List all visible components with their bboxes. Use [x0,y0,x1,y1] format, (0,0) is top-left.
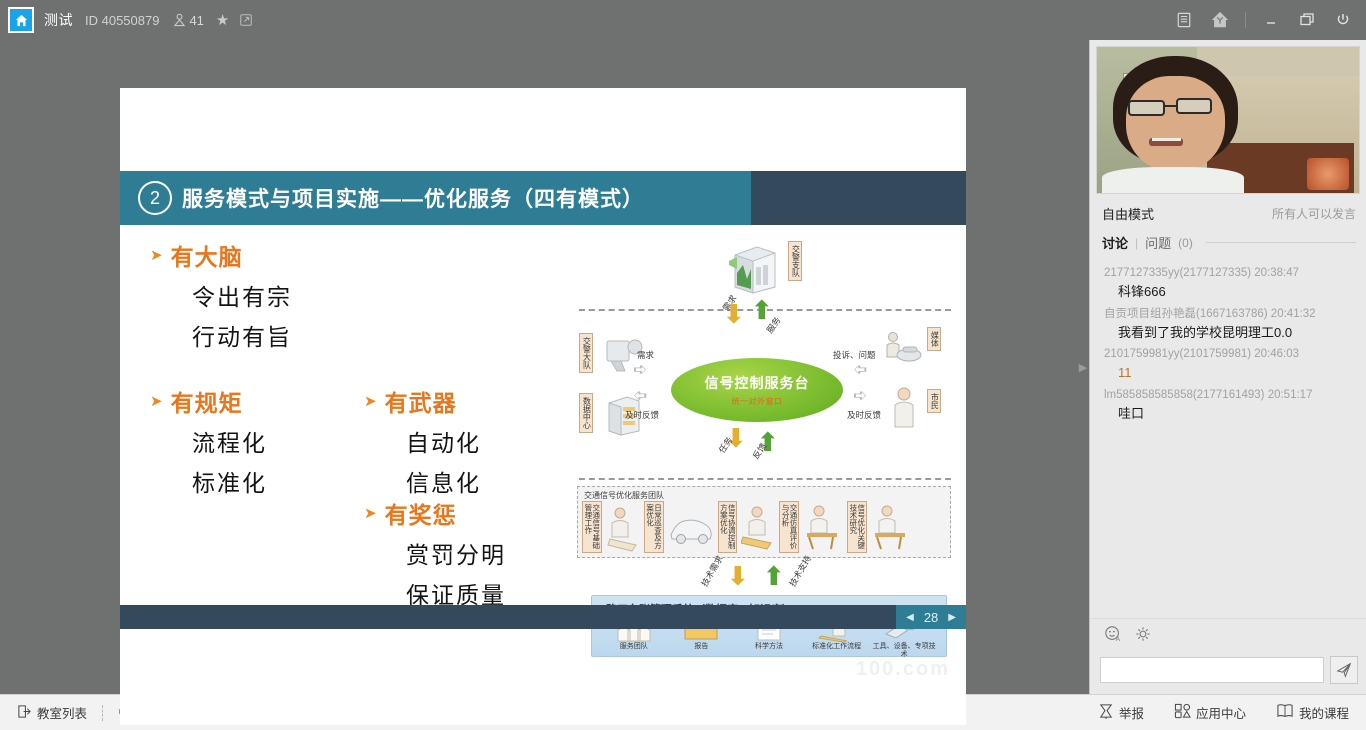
participant-count-label: 41 [189,13,203,28]
bullet-sub: 赏罚分明 [406,536,506,570]
message-meta: 2101759981yy(2101759981) 20:46:03 [1104,345,1356,363]
title-bar: 测试 ID 40550879 41 ★ [0,0,1366,40]
server-building-icon [723,239,785,297]
arrow-bullet-icon: ➤ [364,506,377,521]
arrow-label-complaint: 投诉、问题 [833,349,876,361]
chevron-right-icon[interactable]: ▶ [1077,345,1089,389]
divider [1245,12,1246,28]
tab-question-count: (0) [1178,236,1193,250]
arrow-bullet-icon: ➤ [150,394,163,409]
arrow-bullet-icon: ➤ [364,394,377,409]
message-item: 2177127335yy(2177127335) 20:38:47 科锋666 [1104,264,1356,303]
node-label-traffic-police-division: 交警大队 [579,333,593,373]
classroom-list-label: 教室列表 [37,703,87,722]
message-meta: 自贡项目组孙艳磊(1667163786) 20:41:32 [1104,305,1356,323]
gear-icon[interactable] [1134,625,1152,648]
tab-question[interactable]: 问题 [1145,233,1171,252]
message-meta: 2177127335yy(2177127335) 20:38:47 [1104,264,1356,282]
watermark: 100.com [856,658,950,681]
arrow-bullet-icon: ➤ [150,248,163,263]
bullet-group-4: ➤ 有奖惩 赏罚分明 保证质量 [364,496,506,610]
message-text: 哇口 [1104,404,1356,424]
book-icon [1276,703,1294,722]
app-center-button[interactable]: 应用中心 [1167,703,1253,722]
report-label: 举报 [1119,703,1144,722]
down-arrow-icon: ⬇ [727,563,749,589]
window-controls [1173,8,1366,32]
db-item-label: 科学方法 [755,643,783,651]
home-icon[interactable] [8,7,34,33]
team-item-label: 信号协调控制方案优化 [718,501,738,553]
service-desk-node: 信号控制服务台 统一对外窗口 [671,358,843,422]
node-label-traffic-police-branch: 交警支队 [788,241,802,281]
bullet-sub: 信息化 [406,464,481,498]
team-item-label: 交通信号基础管理工作 [582,501,602,553]
bullet-group-1: ➤ 有大脑 令出有宗 行动有旨 [150,238,292,352]
tab-divider: | [1135,236,1138,250]
people-icon [173,13,186,27]
db-item-label: 标准化工作流程 [812,643,861,651]
team-item-label: 交通仿真评价与分析 [779,501,799,553]
team-box-title: 交通信号优化服务团队 [584,490,664,501]
list-icon[interactable] [1173,8,1195,32]
bullet-sub: 流程化 [192,424,267,458]
bottom-right-actions: 举报 应用中心 我的课程 [1091,703,1356,723]
person-writing-icon [606,501,640,553]
slide-footer-bar: ◀ 28 ▶ [120,605,966,629]
db-item-label: 工具、设备、专项技术 [872,643,936,658]
next-page-button[interactable]: ▶ [948,612,956,623]
chat-toolbar: A [1090,618,1366,652]
participant-count: 41 [173,13,203,28]
bullet-heading: 有武器 [385,384,457,418]
message-item: 2101759981yy(2101759981) 20:46:03 11 [1104,345,1356,384]
message-meta: lm585858585858(2177161493) 20:51:17 [1104,386,1356,404]
down-arrow-icon: ⬇ [723,301,745,327]
message-item: lm585858585858(2177161493) 20:51:17 哇口 [1104,386,1356,425]
left-arrow-icon: ➪ [853,361,867,378]
chat-input-row [1090,652,1366,694]
exit-icon [17,704,32,722]
message-text: 11 [1104,363,1356,383]
home-nav-icon[interactable] [1209,8,1231,32]
share-icon[interactable] [239,13,253,27]
app-center-label: 应用中心 [1196,703,1246,722]
divider [1206,242,1356,243]
arrow-label-feedback-left: 及时反馈 [625,409,659,421]
citizen-icon [889,385,919,431]
bullet-sub: 标准化 [192,464,267,498]
divider [102,705,103,721]
video-panel [1090,40,1366,194]
right-sidebar: 自由模式 所有人可以发言 讨论 | 问题 (0) 2177127335yy(21… [1089,40,1366,694]
teacher-video[interactable] [1096,46,1360,194]
left-arrow-icon: ➪ [633,387,647,404]
maximize-button[interactable] [1296,8,1318,32]
team-item-label: 信号优化关键技术研究 [847,501,867,553]
room-id: ID 40550879 [85,13,159,28]
classroom-app: 测试 ID 40550879 41 ★ [0,0,1366,730]
classroom-list-button[interactable]: 教室列表 [10,703,94,722]
node-label-citizen: 市民 [927,389,941,413]
bullet-heading: 有大脑 [171,238,243,272]
report-button[interactable]: 举报 [1091,703,1151,723]
person-computer-icon [871,501,911,553]
slide-title: 服务模式与项目实施——优化服务（四有模式） [182,183,644,213]
arrow-label-demand-left: 需求 [637,349,654,361]
svg-text:A: A [1116,636,1121,643]
service-desk-title: 信号控制服务台 [705,373,810,393]
slide-title-band: 2 服务模式与项目实施——优化服务（四有模式） [120,171,966,225]
prev-page-button[interactable]: ◀ [906,612,914,623]
dashed-divider [579,478,951,480]
bullet-group-3: ➤ 有武器 自动化 信息化 [364,384,481,498]
emoji-icon[interactable]: A [1104,625,1122,648]
person-computer-icon [803,501,843,553]
apps-icon [1174,703,1191,722]
arrow-label-tech-support: 技术支持 [786,553,813,588]
report-icon [1098,703,1114,723]
message-text: 科锋666 [1104,282,1356,302]
message-item: 自贡项目组孙艳磊(1667163786) 20:41:32 我看到了我的学校昆明… [1104,305,1356,344]
arrow-label-feedback-right: 及时反馈 [847,409,881,421]
right-arrow-icon: ➪ [853,387,867,404]
room-name: 测试 [44,10,73,30]
message-list[interactable]: 2177127335yy(2177127335) 20:38:47 科锋666 … [1090,252,1366,618]
bullet-group-2: ➤ 有规矩 流程化 标准化 [150,384,267,498]
node-label-media: 媒体 [927,327,941,351]
page-number: 28 [924,610,938,625]
bullet-sub: 行动有旨 [192,318,292,352]
slide-canvas[interactable]: 2 服务模式与项目实施——优化服务（四有模式） ➤ 有大脑 令出有宗 [120,88,966,725]
send-button[interactable] [1330,656,1358,684]
message-text: 我看到了我的学校昆明理工0.0 [1104,323,1356,343]
arrow-label-tech-demand: 技术需求 [698,553,725,588]
person-at-desk-icon [741,501,775,553]
slide-stage: 2 服务模式与项目实施——优化服务（四有模式） ➤ 有大脑 令出有宗 [0,40,1089,694]
section-number: 2 [138,181,172,215]
service-desk-subtitle: 统一对外窗口 [732,396,783,407]
star-icon[interactable]: ★ [216,11,229,29]
close-button[interactable] [1332,8,1354,32]
bullet-heading: 有奖惩 [385,496,457,530]
slide-pager: ◀ 28 ▶ [896,605,966,629]
chat-tabs: 讨论 | 问题 (0) [1090,233,1366,252]
service-architecture-diagram: 交警支队 需求 ⬇ ⬆ 服务 交警大队 数据中心 [575,233,955,633]
telephone-person-icon [881,329,923,371]
optimization-team-box: 交通信号优化服务团队 交通信号基础管理工作 日常巡查及方案优化 [577,486,951,558]
chat-input[interactable] [1100,657,1324,683]
bullet-sub: 令出有宗 [192,278,292,312]
minimize-button[interactable] [1260,8,1282,32]
my-courses-button[interactable]: 我的课程 [1269,703,1356,722]
car-icon [668,501,714,553]
bullet-sub: 自动化 [406,424,481,458]
right-arrow-icon: ➪ [633,361,647,378]
speaking-mode-note: 所有人可以发言 [1272,205,1356,222]
db-item-label: 服务团队 [620,643,648,651]
db-item-label: 报告 [694,643,708,651]
up-arrow-icon: ⬆ [763,563,785,589]
team-item-label: 日常巡查及方案优化 [644,501,664,553]
node-label-data-center: 数据中心 [579,393,593,433]
speaking-mode-label: 自由模式 [1102,204,1154,223]
speaking-mode-row: 自由模式 所有人可以发言 [1090,194,1366,233]
my-courses-label: 我的课程 [1299,703,1349,722]
tab-discussion[interactable]: 讨论 [1102,233,1128,252]
main-area: 2 服务模式与项目实施——优化服务（四有模式） ➤ 有大脑 令出有宗 [0,40,1366,694]
bullet-heading: 有规矩 [171,384,243,418]
